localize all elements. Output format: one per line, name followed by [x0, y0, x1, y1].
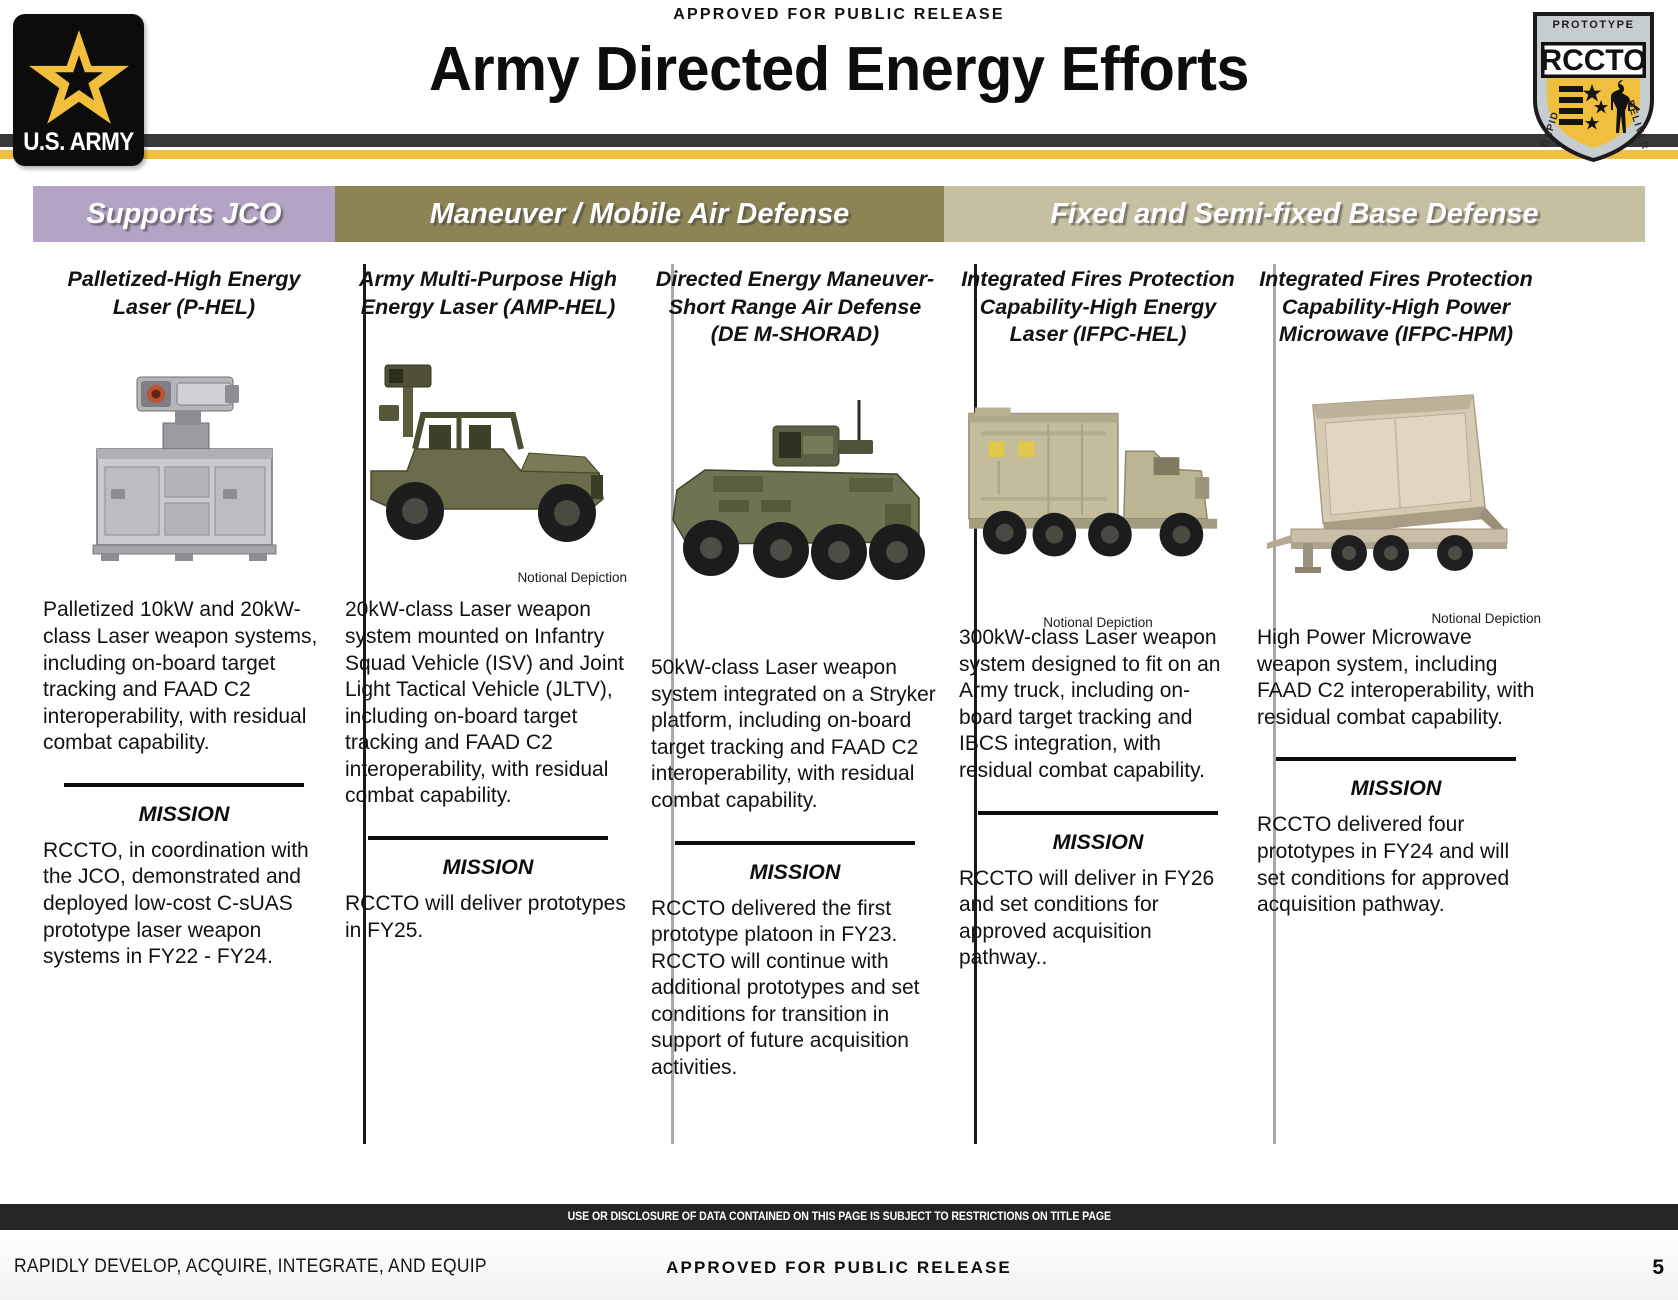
- palletized-laser-container-icon: [77, 349, 292, 564]
- banner-supports-jco: Supports JCO: [33, 186, 335, 242]
- column-description: 50kW-class Laser weapon system integrate…: [651, 649, 939, 814]
- rccto-main-text: RCCTO: [1540, 44, 1646, 77]
- mission-text: RCCTO delivered the first prototype plat…: [651, 896, 939, 1082]
- column-description: 20kW-class Laser weapon system mounted o…: [345, 591, 631, 810]
- header-gold-rule: [0, 150, 1678, 159]
- army-truck-shelter-laser-icon: [959, 377, 1237, 592]
- stryker-de-mshorad-icon: [653, 392, 938, 607]
- trailer-mounted-hpm-array-icon: [1259, 377, 1534, 592]
- footer-approved-label: APPROVED FOR PUBLIC RELEASE: [0, 1258, 1678, 1278]
- rccto-top-text: PROTOTYPE: [1552, 19, 1634, 31]
- notional-depiction-label: Notional Depiction: [1043, 615, 1153, 631]
- page-title: Army Directed Energy Efforts: [34, 34, 1645, 105]
- mission-rule: [675, 841, 915, 845]
- header-dark-rule: [0, 134, 1678, 147]
- column-artwork: Notional Depiction: [345, 321, 631, 591]
- column-de-m-shorad: Directed Energy Maneuver-Short Range Air…: [641, 258, 949, 1140]
- mission-rule: [1276, 757, 1516, 761]
- mission-rule: [368, 836, 608, 840]
- column-title: Directed Energy Maneuver-Short Range Air…: [651, 258, 939, 349]
- column-amp-hel: Army Multi-Purpose High Energy Laser (AM…: [335, 258, 641, 1140]
- column-artwork: [651, 349, 939, 649]
- restriction-banner: USE OR DISCLOSURE OF DATA CONTAINED ON T…: [0, 1204, 1678, 1230]
- mission-label: MISSION: [1257, 776, 1535, 801]
- column-artwork: Notional Depiction: [1257, 349, 1535, 619]
- army-star-icon: [26, 28, 131, 128]
- column-ifpc-hpm: Integrated Fires Protection Capability-H…: [1247, 258, 1545, 1140]
- restriction-text: USE OR DISCLOSURE OF DATA CONTAINED ON T…: [567, 1211, 1110, 1223]
- column-description: 300kW-class Laser weapon system designed…: [959, 619, 1237, 784]
- column-artwork: [43, 321, 325, 591]
- banner-fixed-semi-fixed-base-defense: Fixed and Semi-fixed Base Defense: [944, 186, 1645, 242]
- banner-maneuver-mobile-air-defense: Maneuver / Mobile Air Defense: [335, 186, 944, 242]
- column-description: High Power Microwave weapon system, incl…: [1257, 619, 1535, 731]
- mission-label: MISSION: [959, 830, 1237, 855]
- mission-text: RCCTO delivered four prototypes in FY24 …: [1257, 812, 1535, 918]
- column-title: Integrated Fires Protection Capability-H…: [1257, 258, 1535, 349]
- column-title: Palletized-High Energy Laser (P-HEL): [43, 258, 325, 321]
- notional-depiction-label: Notional Depiction: [1431, 611, 1541, 627]
- mission-text: RCCTO will deliver in FY26 and set condi…: [959, 866, 1237, 972]
- approved-for-public-release-header: APPROVED FOR PUBLIC RELEASE: [0, 6, 1678, 24]
- us-army-logo: U.S. ARMY: [13, 14, 144, 166]
- mission-label: MISSION: [43, 802, 325, 827]
- column-title: Integrated Fires Protection Capability-H…: [959, 258, 1237, 349]
- column-p-hel: Palletized-High Energy Laser (P-HEL): [33, 258, 335, 1140]
- mission-label: MISSION: [345, 855, 631, 880]
- column-description: Palletized 10kW and 20kW-class Laser wea…: [43, 591, 325, 756]
- slide-canvas: APPROVED FOR PUBLIC RELEASE Army Directe…: [0, 0, 1678, 1300]
- mission-label: MISSION: [651, 860, 939, 885]
- mission-text: RCCTO, in coordination with the JCO, dem…: [43, 838, 325, 971]
- mission-rule: [978, 811, 1218, 815]
- rccto-logo: PROTOTYPE RCCTO RAPID DELIVER: [1527, 8, 1660, 164]
- columns-container: Palletized-High Energy Laser (P-HEL): [33, 258, 1645, 1140]
- column-title: Army Multi-Purpose High Energy Laser (AM…: [345, 258, 631, 321]
- page-number: 5: [1652, 1256, 1664, 1280]
- army-logo-label: U.S. ARMY: [20, 128, 138, 157]
- infantry-squad-vehicle-laser-icon: [353, 349, 623, 564]
- column-ifpc-hel: Integrated Fires Protection Capability-H…: [949, 258, 1247, 1140]
- column-artwork: Notional Depiction: [959, 349, 1237, 619]
- mission-rule: [64, 783, 304, 787]
- notional-depiction-label: Notional Depiction: [517, 570, 627, 586]
- mission-text: RCCTO will deliver prototypes in FY25.: [345, 891, 631, 944]
